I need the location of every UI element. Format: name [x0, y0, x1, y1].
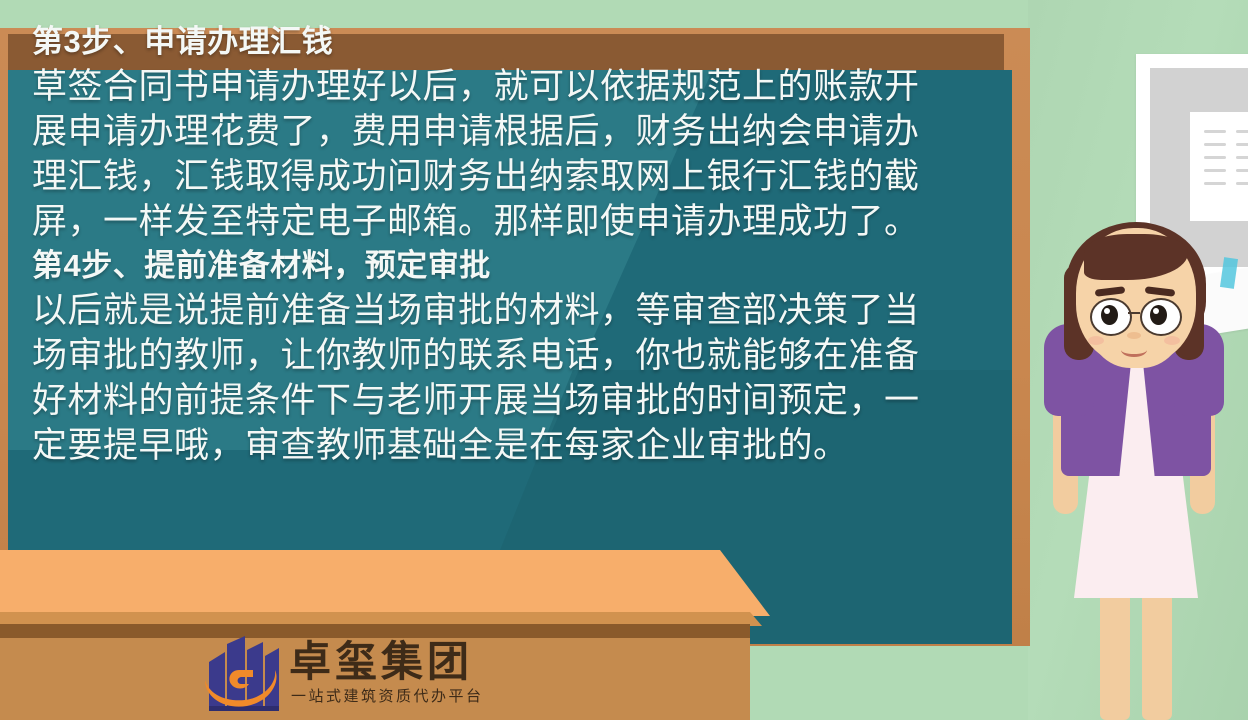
- video-frame: 第3步、申请办理汇钱 草签合同书申请办理好以后，就可以依据规范上的账款开 展申请…: [0, 0, 1248, 720]
- teacher-nose: [1127, 332, 1141, 339]
- eye-right: [1150, 305, 1167, 325]
- board-line-2: 草签合同书申请办理好以后，就可以依据规范上的账款开: [32, 64, 1226, 109]
- board-line-4: 理汇钱，汇钱取得成功问财务出纳索取网上银行汇钱的截: [32, 154, 1226, 199]
- building-logo-icon: [203, 634, 295, 714]
- brand-logo: 卓玺集团 一站式建筑资质代办平台: [203, 634, 503, 718]
- eye-left: [1101, 305, 1118, 325]
- teacher-legs: [1096, 586, 1176, 720]
- cheek-right: [1164, 336, 1180, 345]
- teacher-leg-left: [1100, 586, 1130, 720]
- brand-tagline: 一站式建筑资质代办平台: [291, 688, 484, 706]
- podium-desktop: [0, 550, 770, 616]
- board-line-1: 第3步、申请办理汇钱: [32, 20, 1226, 64]
- brand-name: 卓玺集团: [289, 638, 473, 686]
- female-teacher-illustration: [1022, 236, 1248, 720]
- teacher-mouth: [1121, 343, 1147, 357]
- glasses-bridge: [1128, 312, 1140, 314]
- teacher-leg-right: [1142, 586, 1172, 720]
- cheek-left: [1088, 336, 1104, 345]
- brand-logo-text: 卓玺集团 一站式建筑资质代办平台: [289, 634, 503, 714]
- board-line-3: 展申请办理花费了，费用申请根据后，财务出纳会申请办: [32, 109, 1226, 154]
